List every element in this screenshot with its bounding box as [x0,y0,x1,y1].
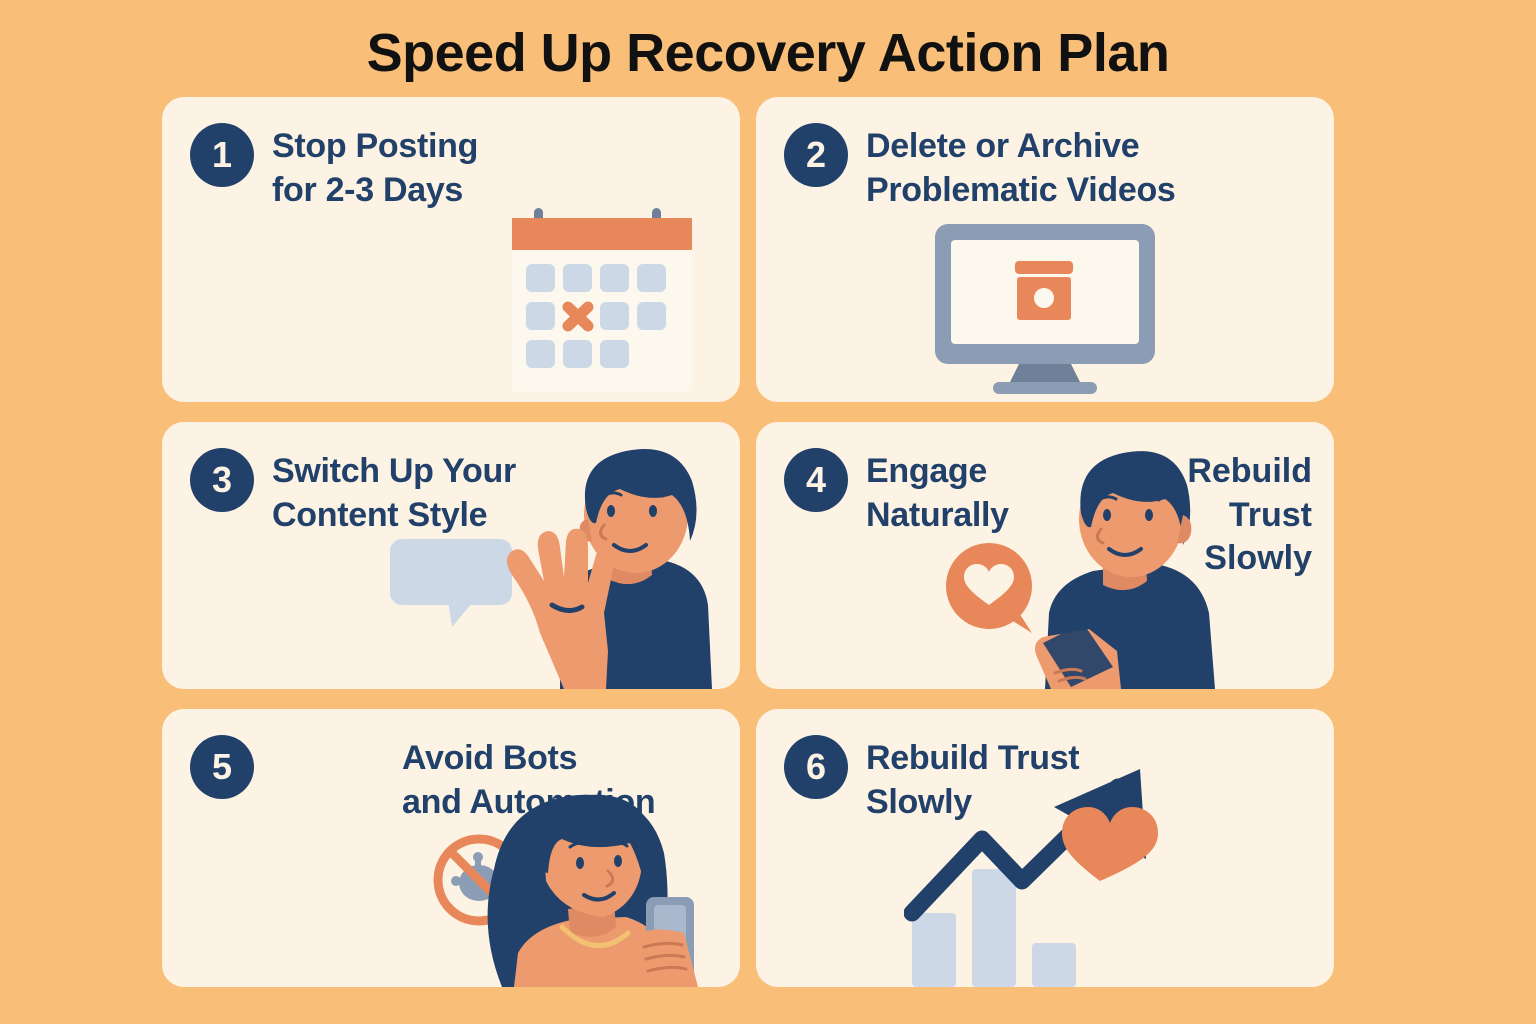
step-5-header: 5 Avoid Bots and Automation [190,735,722,824]
step-1-header: 1 Stop Posting for 2-3 Days [190,123,722,212]
step-card-2[interactable]: 2 Delete or Archive Problematic Videos [756,97,1334,402]
step-number-badge-5: 5 [190,735,254,799]
step-card-4[interactable]: 4 Engage Naturally Rebuild Trust Slowly [756,422,1334,689]
step-number-badge-4: 4 [784,448,848,512]
monitor-archive-icon [927,220,1163,396]
infographic-poster: Speed Up Recovery Action Plan 1 Stop Pos… [0,0,1536,1024]
step-title-1: Stop Posting for 2-3 Days [272,123,478,212]
step-number-badge-3: 3 [190,448,254,512]
page-title: Speed Up Recovery Action Plan [0,22,1536,84]
step-number-badge-6: 6 [784,735,848,799]
steps-grid: 1 Stop Posting for 2-3 Days [162,97,1334,973]
step-4-side-title: Rebuild Trust Slowly [1187,450,1312,581]
step-title-6: Rebuild Trust Slowly [866,735,1079,824]
step-card-6[interactable]: 6 Rebuild Trust Slowly [756,709,1334,987]
step-3-header: 3 Switch Up Your Content Style [190,448,722,537]
step-card-3[interactable]: 3 Switch Up Your Content Style [162,422,740,689]
step-6-header: 6 Rebuild Trust Slowly [784,735,1316,824]
step-title-3: Switch Up Your Content Style [272,448,516,537]
step-title-5: Avoid Bots and Automation [402,735,655,824]
step-card-1[interactable]: 1 Stop Posting for 2-3 Days [162,97,740,402]
step-number-badge-2: 2 [784,123,848,187]
step-title-2: Delete or Archive Problematic Videos [866,123,1176,212]
step-2-header: 2 Delete or Archive Problematic Videos [784,123,1316,212]
step-card-5[interactable]: 5 Avoid Bots and Automation [162,709,740,987]
step-title-4: Engage Naturally [866,448,1009,537]
calendar-icon [504,206,704,392]
step-number-badge-1: 1 [190,123,254,187]
